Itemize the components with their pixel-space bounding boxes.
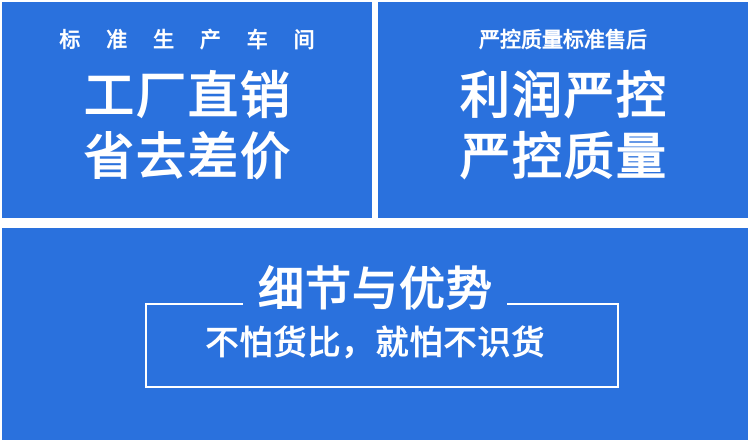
panel-left-headline-line1: 工厂直销 — [82, 67, 292, 126]
bottom-panel-title: 细节与优势 — [243, 266, 507, 312]
panel-right-headline-line2: 严控质量 — [458, 128, 668, 187]
panel-right-headline-line1: 利润严控 — [458, 67, 668, 126]
bottom-panel-subtitle: 不怕货比，就怕不识货 — [205, 326, 546, 359]
panel-left-headline-line2: 省去差价 — [82, 128, 292, 187]
promo-banner: 标 准 生 产 车 间 工厂直销 省去差价 严控质量标准售后 利润严控 严控质量… — [0, 0, 750, 440]
panel-quality-control: 严控质量标准售后 利润严控 严控质量 — [378, 2, 748, 218]
panel-left-eyebrow: 标 准 生 产 车 间 — [49, 30, 324, 51]
bottom-text-stack: 细节与优势 不怕货比，就怕不识货 — [2, 228, 748, 440]
panel-details-advantages: 细节与优势 不怕货比，就怕不识货 — [2, 228, 748, 440]
panel-right-eyebrow: 严控质量标准售后 — [479, 30, 647, 51]
panel-factory-direct: 标 准 生 产 车 间 工厂直销 省去差价 — [2, 2, 372, 218]
